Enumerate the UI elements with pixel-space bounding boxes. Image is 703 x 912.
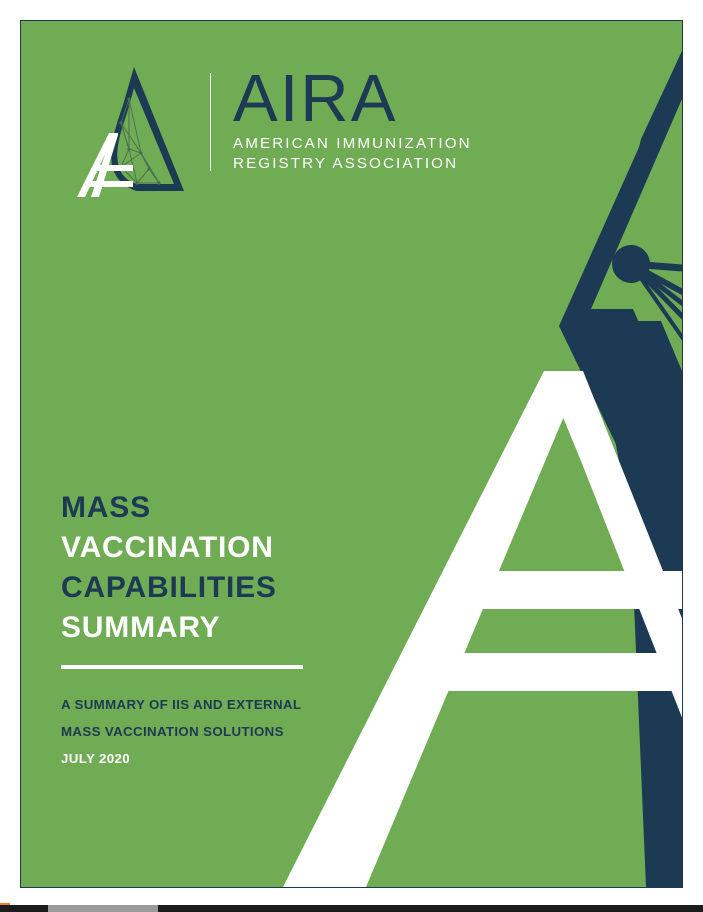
logo-wordmark: AIRA AMERICAN IMMUNIZATION REGISTRY ASSO… bbox=[233, 67, 472, 175]
subtitle-line-1: A SUMMARY OF IIS AND EXTERNAL bbox=[61, 691, 391, 718]
document-page: AIRA AMERICAN IMMUNIZATION REGISTRY ASSO… bbox=[20, 20, 683, 888]
page-canvas: AIRA AMERICAN IMMUNIZATION REGISTRY ASSO… bbox=[21, 21, 682, 887]
title-line-1: MASS bbox=[61, 488, 391, 528]
viewer-bottom-bar-segment bbox=[48, 905, 158, 912]
title-line-4: SUMMARY bbox=[61, 608, 391, 648]
brand-name: AIRA bbox=[233, 67, 472, 131]
pdf-viewer: AIRA AMERICAN IMMUNIZATION REGISTRY ASSO… bbox=[0, 0, 703, 912]
logo-divider bbox=[210, 73, 211, 171]
network-node bbox=[612, 245, 650, 283]
title-line-2: VACCINATION bbox=[61, 528, 391, 568]
title-line-3: CAPABILITIES bbox=[61, 568, 391, 608]
aira-logo-lockup: AIRA AMERICAN IMMUNIZATION REGISTRY ASSO… bbox=[71, 61, 471, 211]
brand-tagline-line-2: REGISTRY ASSOCIATION bbox=[233, 154, 472, 175]
document-date: JULY 2020 bbox=[61, 745, 391, 772]
brand-tagline-line-1: AMERICAN IMMUNIZATION bbox=[233, 134, 472, 155]
aira-triangle-network-mark-icon bbox=[71, 61, 189, 201]
cover-title-block: MASS VACCINATION CAPABILITIES SUMMARY A … bbox=[61, 488, 391, 772]
subtitle-line-2: MASS VACCINATION SOLUTIONS bbox=[61, 718, 391, 745]
title-divider-rule bbox=[61, 665, 303, 669]
